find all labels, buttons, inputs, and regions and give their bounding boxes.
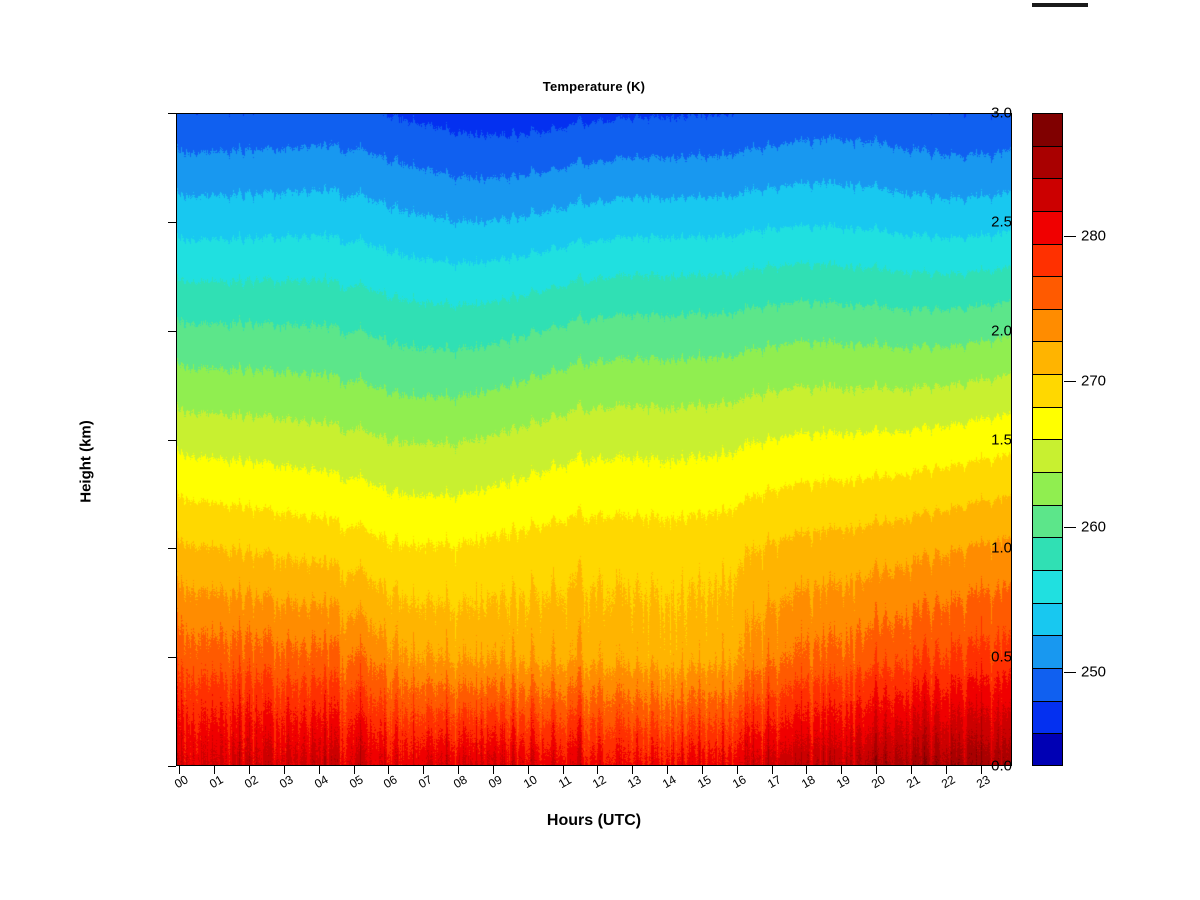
x-axis-tick-label: 17 bbox=[765, 772, 784, 791]
x-axis-tick-label: 02 bbox=[242, 772, 261, 791]
x-axis-tick-label: 22 bbox=[939, 772, 958, 791]
x-axis-tick-label: 20 bbox=[869, 772, 888, 791]
y-axis-tick-label: 0.0 bbox=[991, 758, 1012, 775]
colorbar-tick-mark bbox=[1064, 381, 1076, 382]
colorbar-band bbox=[1033, 277, 1062, 310]
y-axis-tick-label: 2.0 bbox=[991, 322, 1012, 339]
x-axis-tick-mark bbox=[876, 766, 877, 774]
colorbar-band bbox=[1033, 506, 1062, 539]
y-axis-tick-mark bbox=[168, 548, 176, 549]
x-axis-tick-label: 08 bbox=[451, 772, 470, 791]
colorbar-band bbox=[1033, 375, 1062, 408]
colorbar-band bbox=[1033, 245, 1062, 278]
x-axis-tick-label: 11 bbox=[556, 773, 574, 791]
colorbar-tick-mark bbox=[1064, 236, 1076, 237]
y-axis-tick-mark bbox=[168, 222, 176, 223]
colorbar-band bbox=[1033, 179, 1062, 212]
heatmap-plot-area bbox=[176, 113, 1012, 766]
x-axis-tick-mark bbox=[911, 766, 912, 774]
colorbar-tick-label: 260 bbox=[1081, 518, 1106, 535]
y-axis-tick-label: 2.5 bbox=[991, 213, 1012, 230]
colorbar-band bbox=[1033, 440, 1062, 473]
colorbar-band bbox=[1033, 212, 1062, 245]
x-axis-tick-label: 06 bbox=[381, 772, 400, 791]
corner-mark bbox=[1032, 3, 1088, 7]
colorbar-band bbox=[1033, 342, 1062, 375]
x-axis-tick-label: 05 bbox=[347, 772, 366, 791]
x-axis-tick-label: 18 bbox=[799, 772, 818, 791]
x-axis-tick-mark bbox=[563, 766, 564, 774]
x-axis-tick-label: 19 bbox=[834, 772, 853, 791]
x-axis-tick-label: 10 bbox=[521, 772, 540, 791]
y-axis-tick-mark bbox=[168, 331, 176, 332]
x-axis-tick-label: 16 bbox=[730, 772, 749, 791]
y-axis-tick-mark bbox=[168, 113, 176, 114]
colorbar-band bbox=[1033, 702, 1062, 735]
x-axis-tick-label: 13 bbox=[625, 772, 644, 791]
colorbar-band bbox=[1033, 114, 1062, 147]
x-axis-tick-label: 09 bbox=[486, 772, 505, 791]
colorbar-tick-mark bbox=[1064, 527, 1076, 528]
heatmap-canvas bbox=[177, 114, 1012, 766]
x-axis-tick-mark bbox=[772, 766, 773, 774]
x-axis-tick-mark bbox=[458, 766, 459, 774]
x-axis-tick-mark bbox=[702, 766, 703, 774]
x-axis-tick-label: 15 bbox=[695, 772, 714, 791]
x-axis-tick-label: 07 bbox=[416, 772, 435, 791]
x-axis-tick-mark bbox=[667, 766, 668, 774]
x-axis-tick-label: 03 bbox=[277, 772, 296, 791]
x-axis-tick-mark bbox=[319, 766, 320, 774]
colorbar-band bbox=[1033, 473, 1062, 506]
x-axis-tick-label: 01 bbox=[207, 772, 226, 791]
x-axis-tick-mark bbox=[493, 766, 494, 774]
x-axis-tick-label: 21 bbox=[904, 772, 923, 791]
y-axis-tick-label: 3.0 bbox=[991, 105, 1012, 122]
y-axis-tick-label: 1.0 bbox=[991, 540, 1012, 557]
colorbar-band bbox=[1033, 669, 1062, 702]
x-axis-tick-mark bbox=[284, 766, 285, 774]
y-axis-tick-label: 0.5 bbox=[991, 649, 1012, 666]
x-axis-tick-label: 04 bbox=[312, 772, 331, 791]
y-axis-title: Height (km) bbox=[78, 372, 95, 552]
page-title: Temperature (K) bbox=[176, 79, 1012, 94]
colorbar-tick-label: 270 bbox=[1081, 373, 1106, 390]
x-axis-tick-mark bbox=[249, 766, 250, 774]
x-axis-tick-mark bbox=[981, 766, 982, 774]
y-axis-tick-mark bbox=[168, 440, 176, 441]
x-axis-tick-label: 14 bbox=[660, 772, 679, 791]
x-axis-tick-mark bbox=[737, 766, 738, 774]
colorbar-bands bbox=[1033, 114, 1062, 766]
colorbar-band bbox=[1033, 734, 1062, 766]
colorbar bbox=[1032, 113, 1063, 766]
temperature-time-height-figure: Temperature (K) 0.00.51.01.52.02.53.0 He… bbox=[0, 0, 1200, 900]
colorbar-tick-mark bbox=[1064, 672, 1076, 673]
x-axis-title: Hours (UTC) bbox=[176, 812, 1012, 830]
x-axis-tick-mark bbox=[946, 766, 947, 774]
y-axis-tick-mark bbox=[168, 657, 176, 658]
colorbar-tick-label: 280 bbox=[1081, 228, 1106, 245]
colorbar-band bbox=[1033, 604, 1062, 637]
y-axis-tick-label: 1.5 bbox=[991, 431, 1012, 448]
x-axis-tick-mark bbox=[528, 766, 529, 774]
colorbar-band bbox=[1033, 538, 1062, 571]
colorbar-band bbox=[1033, 636, 1062, 669]
x-axis-tick-mark bbox=[354, 766, 355, 774]
colorbar-band bbox=[1033, 310, 1062, 343]
x-axis-tick-label: 12 bbox=[590, 772, 609, 791]
colorbar-tick-label: 250 bbox=[1081, 663, 1106, 680]
y-axis-tick-mark bbox=[168, 766, 176, 767]
x-axis-tick-label: 23 bbox=[974, 772, 993, 791]
colorbar-band bbox=[1033, 408, 1062, 441]
colorbar-band bbox=[1033, 147, 1062, 180]
colorbar-band bbox=[1033, 571, 1062, 604]
